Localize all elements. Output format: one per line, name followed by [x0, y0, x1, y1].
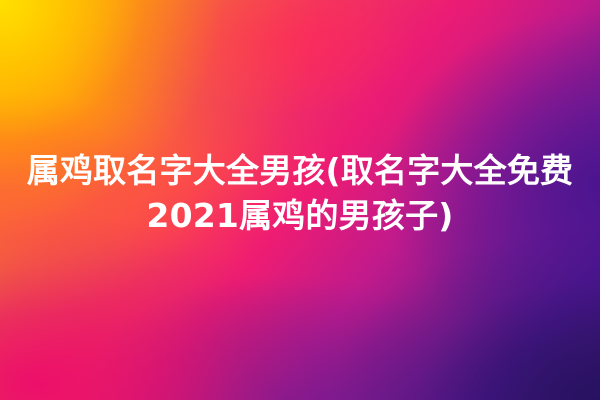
gradient-title-card: 属鸡取名字大全男孩(取名字大全免费2021属鸡的男孩子) [0, 0, 600, 400]
page-title: 属鸡取名字大全男孩(取名字大全免费2021属鸡的男孩子) [0, 148, 600, 238]
